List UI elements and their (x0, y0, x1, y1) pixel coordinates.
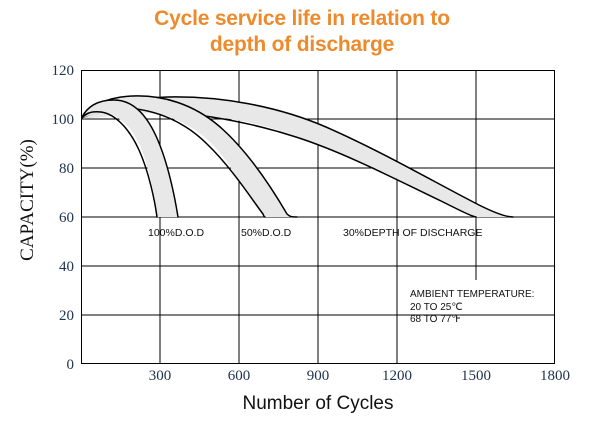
x-tick-1800: 1800 (525, 369, 585, 384)
chart-container: Cycle service life in relation to depth … (0, 0, 604, 430)
y-axis-tick-labels: 120 100 80 60 40 20 0 (28, 0, 74, 430)
series-label-30-dod: 30%DEPTH OF DISCHARGE (343, 227, 482, 239)
note-line-1: AMBIENT TEMPERATURE: (410, 289, 534, 302)
x-tick-1200: 1200 (367, 369, 427, 384)
x-tick-900: 900 (288, 369, 348, 384)
series-label-100-dod: 100%D.O.D (148, 227, 204, 239)
ambient-temperature-note: AMBIENT TEMPERATURE: 20 TO 25℃ 68 TO 77℉ (410, 289, 534, 327)
y-tick-60: 60 (34, 211, 74, 226)
note-line-2: 20 TO 25℃ (410, 302, 534, 315)
chart-title-line-1: Cycle service life in relation to (0, 6, 604, 32)
x-tick-600: 600 (209, 369, 269, 384)
chart-title-line-2: depth of discharge (0, 32, 604, 58)
x-tick-1500: 1500 (446, 369, 506, 384)
y-tick-80: 80 (34, 162, 74, 177)
note-line-3: 68 TO 77℉ (410, 314, 534, 327)
x-tick-300: 300 (130, 369, 190, 384)
chart-title: Cycle service life in relation to depth … (0, 6, 604, 58)
y-tick-120: 120 (34, 64, 74, 79)
y-tick-100: 100 (34, 113, 74, 128)
y-tick-40: 40 (34, 260, 74, 275)
x-axis-tick-labels: 300 600 900 1200 1500 1800 (0, 369, 604, 389)
y-tick-20: 20 (34, 309, 74, 324)
x-axis-title: Number of Cycles (81, 393, 555, 415)
series-label-50-dod: 50%D.O.D (241, 227, 291, 239)
